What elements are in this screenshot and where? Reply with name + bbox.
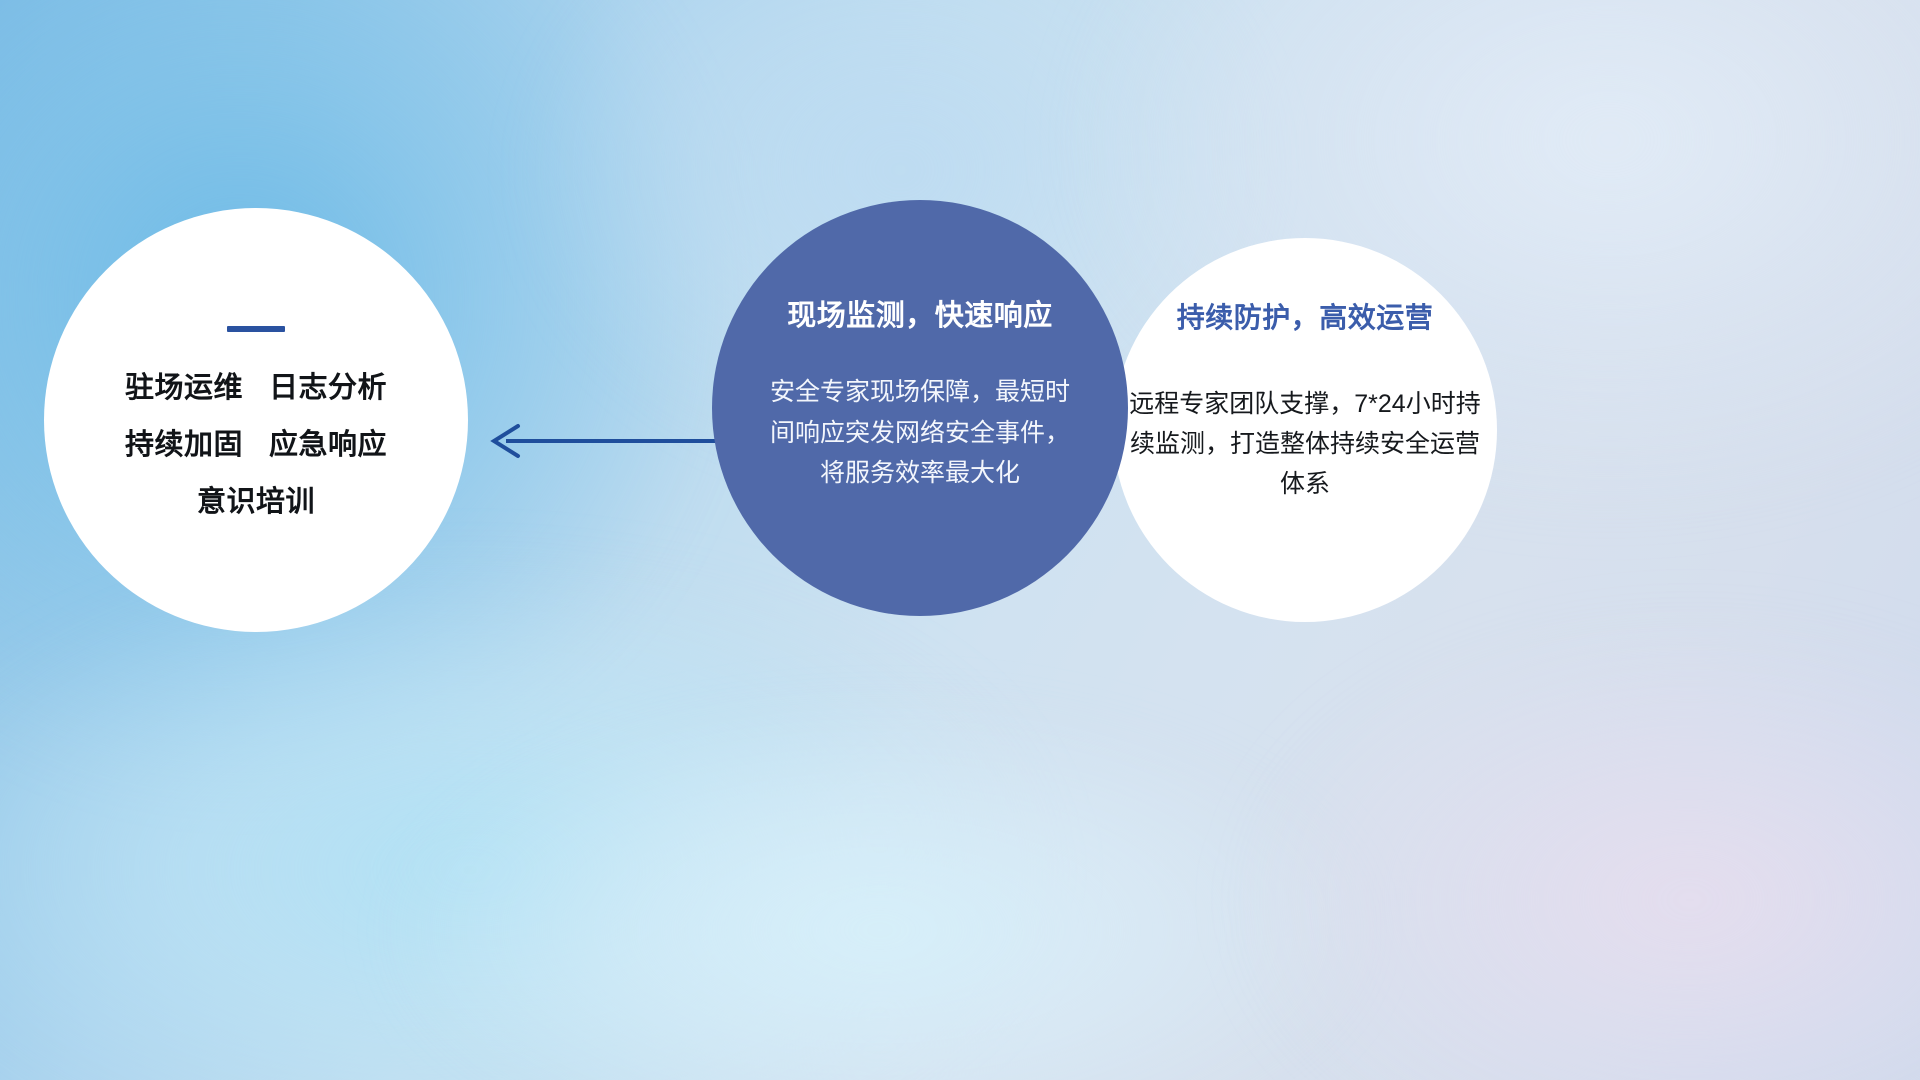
capability-list: 驻场运维日志分析 持续加固应急响应 意识培训	[44, 374, 468, 517]
divider-dash	[227, 326, 285, 332]
capability-circle-right[interactable]: 持续防护，高效运营 远程专家团队支撑，7*24小时持续监测，打造整体持续安全运营…	[1113, 238, 1497, 622]
middle-circle-heading: 现场监测，快速响应	[787, 292, 1053, 334]
capability-row-1: 驻场运维日志分析	[44, 374, 468, 403]
capability-tag-log-analysis: 日志分析	[269, 372, 387, 404]
slide-canvas: 驻场运维日志分析 持续加固应急响应 意识培训 持续防护，高效运营 远程专家团队支…	[0, 0, 1920, 1080]
capability-tag-awareness-training: 意识培训	[197, 486, 315, 518]
arrow-left-icon	[480, 418, 735, 464]
capability-tag-hardening: 持续加固	[125, 429, 243, 461]
capability-row-3: 意识培训	[44, 488, 468, 517]
background-glow-bottom-center	[380, 700, 1380, 1080]
capability-tag-onsite-ops: 驻场运维	[125, 372, 243, 404]
background-glow-bottom-right	[1240, 620, 1920, 1080]
middle-circle-body: 安全专家现场保障，最短时间响应突发网络安全事件，将服务效率最大化	[770, 372, 1070, 494]
capability-circle-middle[interactable]: 现场监测，快速响应 安全专家现场保障，最短时间响应突发网络安全事件，将服务效率最…	[712, 200, 1128, 616]
capability-row-2: 持续加固应急响应	[44, 431, 468, 460]
capability-circle-left[interactable]: 驻场运维日志分析 持续加固应急响应 意识培训	[44, 208, 468, 632]
right-circle-heading: 持续防护，高效运营	[1177, 296, 1434, 336]
capability-tag-incident-response: 应急响应	[269, 429, 387, 461]
right-circle-body: 远程专家团队支撑，7*24小时持续监测，打造整体持续安全运营体系	[1127, 384, 1483, 504]
